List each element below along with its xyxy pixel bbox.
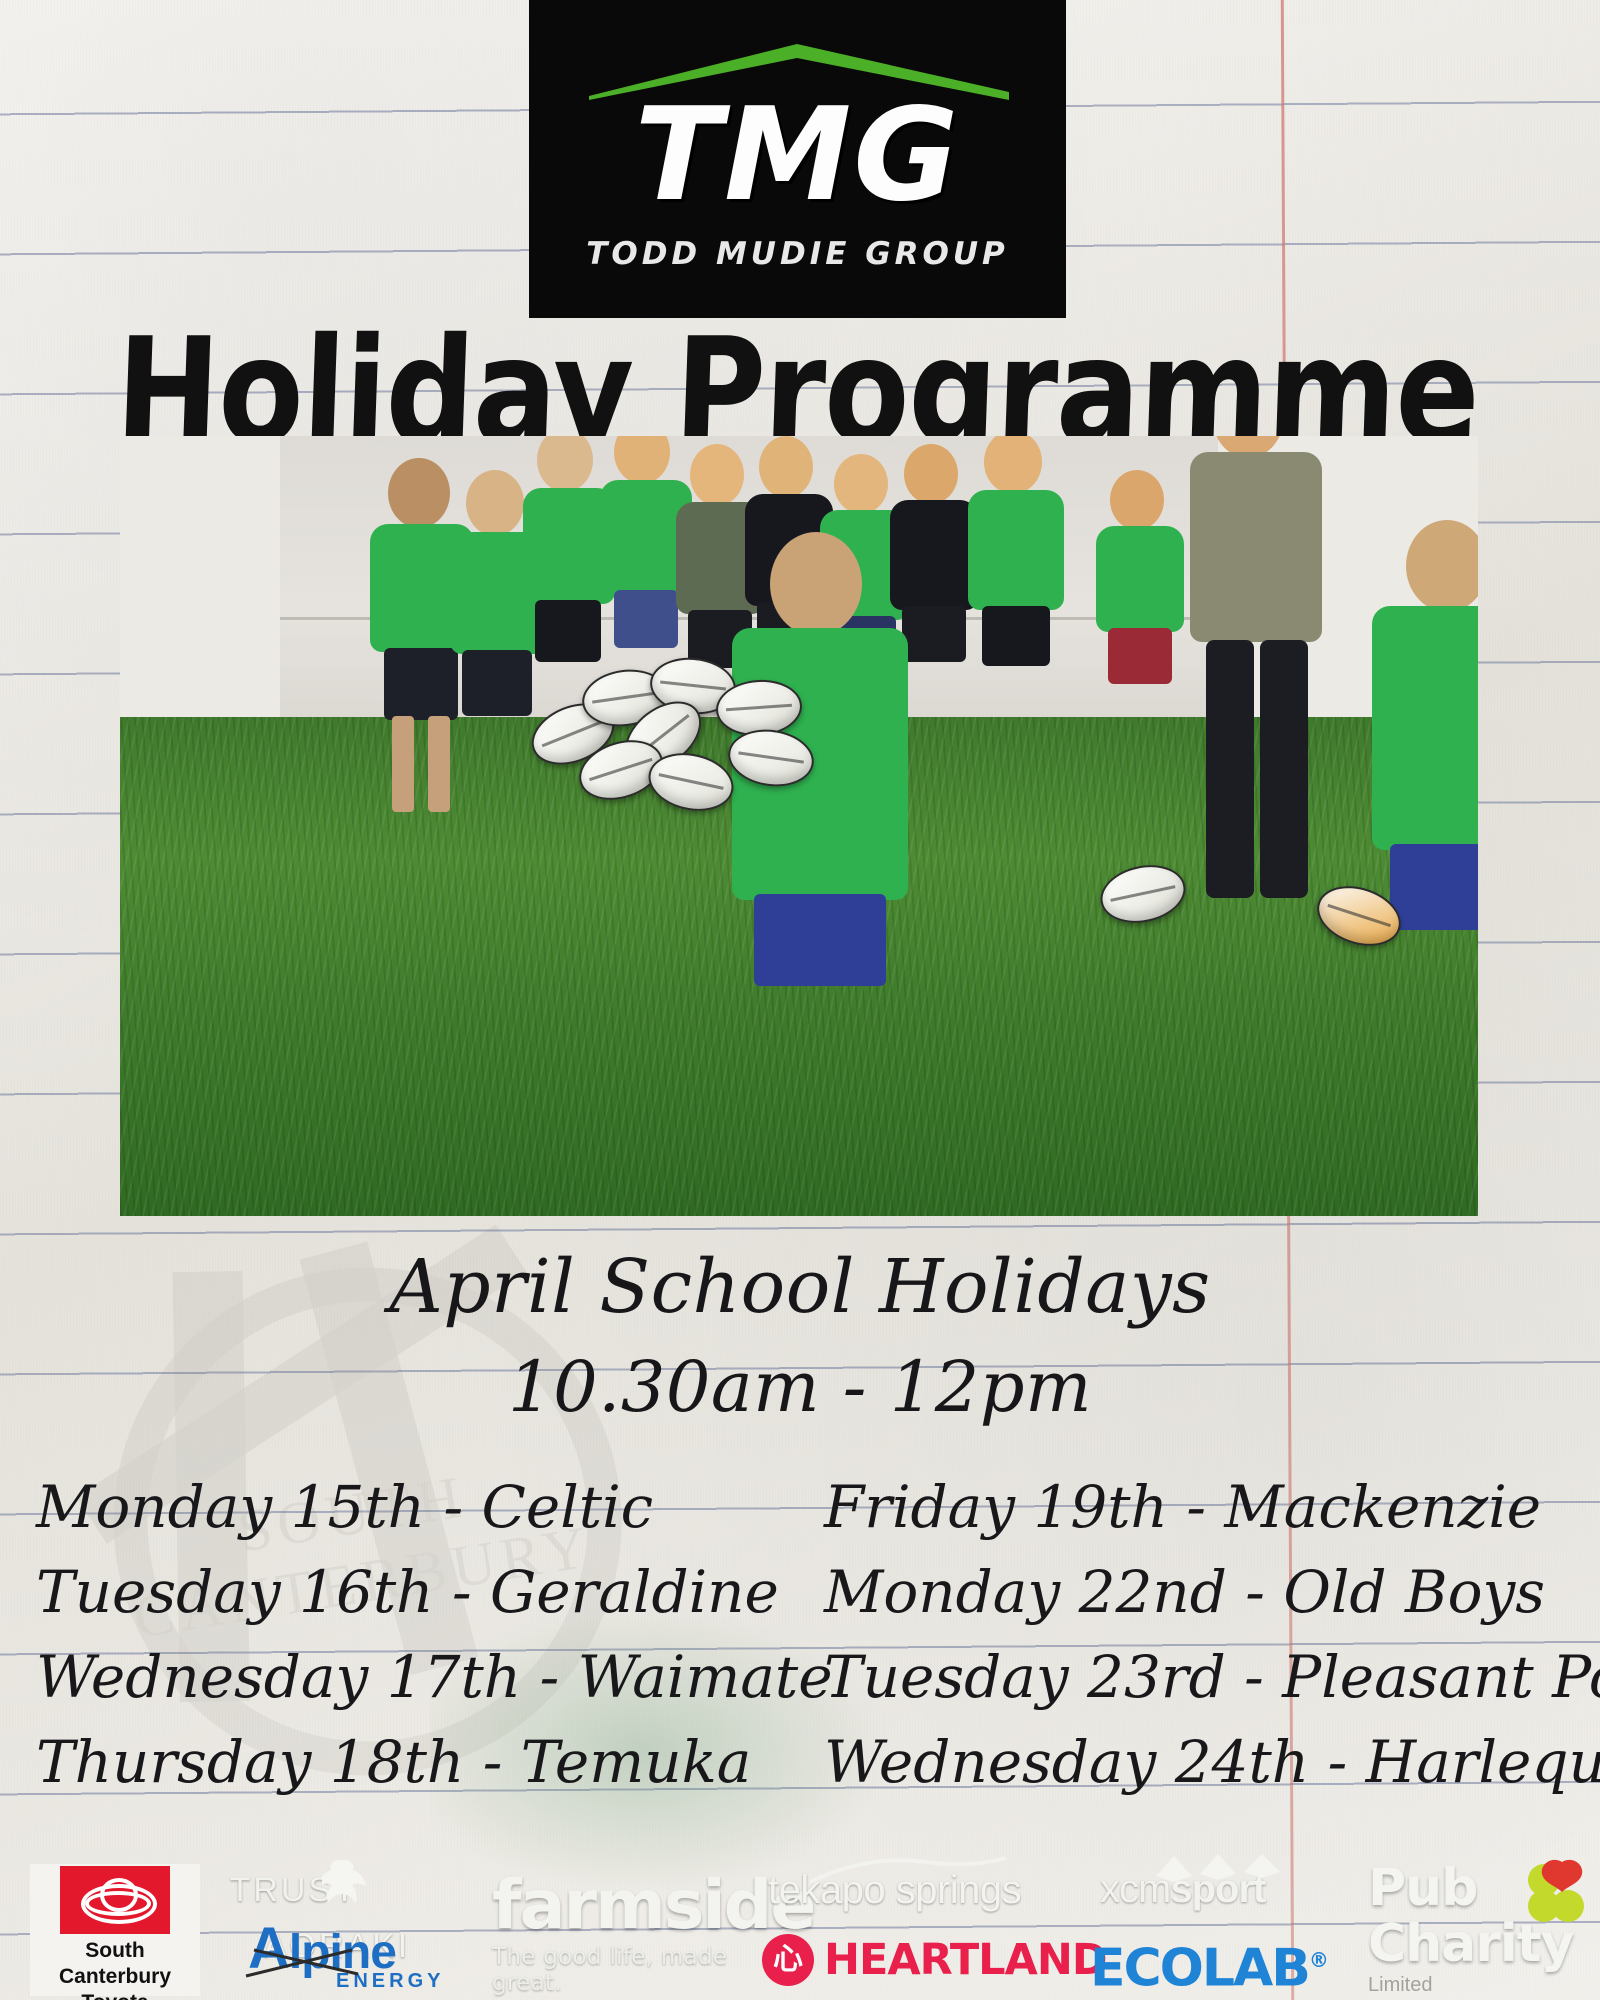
heartland-word: HEARTLAND [824, 1936, 1107, 1984]
arc-swoosh-icon [808, 1852, 1008, 1886]
schedule-right-column: Friday 19th - Mackenzie Monday 22nd - Ol… [816, 1465, 1596, 1805]
tmg-subtitle: TODD MUDIE GROUP [529, 236, 1066, 272]
sponsor-logo-ecolab: ECOLAB® [1090, 1932, 1350, 1992]
toyota-name-line1: South Canterbury [59, 1939, 171, 1988]
toyota-emblem-tile [60, 1866, 170, 1934]
ecolab-registered: ® [1309, 1948, 1327, 1972]
farmside-word: farmside [492, 1870, 782, 1942]
list-item: Tuesday 23rd - Pleasant Point [816, 1635, 1596, 1720]
rugby-training-photo [120, 436, 1478, 1216]
toyota-icon [81, 1878, 149, 1922]
poster-root: SOUTH CANTERBURY TMG TODD MUDIE GROUP Ho… [0, 0, 1600, 2000]
pub-charity-line3: Limited [1368, 1974, 1598, 1997]
bird-icon [322, 1858, 370, 1920]
list-item: Monday 15th - Celtic [36, 1465, 806, 1550]
heartland-seal-icon: 心 [762, 1934, 814, 1986]
sponsor-logo-tekapo-springs: tekapo springs [768, 1862, 1058, 1924]
sponsor-logo-farmside: farmside The good life, made great. [492, 1870, 782, 1980]
ski-poles-icon [244, 1946, 362, 1980]
sponsor-logo-pub-charity: Pub Charity Limited [1368, 1860, 1598, 1996]
tmg-logo: TMG TODD MUDIE GROUP [529, 0, 1066, 318]
tmg-wordmark: TMG [529, 92, 1066, 220]
list-item: Monday 22nd - Old Boys [816, 1550, 1596, 1635]
time-text: 10.30am - 12pm [0, 1350, 1600, 1426]
list-item: Thursday 18th - Temuka [36, 1720, 806, 1805]
toyota-name-line2: Toyota [81, 1991, 148, 2000]
sponsor-logo-south-canterbury-toyota: South Canterbury Toyota [30, 1864, 200, 1996]
sponsor-logo-alpine-energy: Alpine ENERGY [248, 1924, 468, 1996]
schedule-left-column: Monday 15th - Celtic Tuesday 16th - Gera… [36, 1465, 806, 1805]
ecolab-word: ECOLAB [1090, 1938, 1309, 1998]
schedule-grid: Monday 15th - Celtic Tuesday 16th - Gera… [36, 1465, 1586, 1805]
list-item: Friday 19th - Mackenzie [816, 1465, 1596, 1550]
farmside-tagline: The good life, made great. [492, 1944, 782, 1996]
clover-icon [1518, 1858, 1596, 1928]
list-item: Wednesday 17th - Waimate [36, 1635, 806, 1720]
subtitle: April School Holidays [0, 1248, 1600, 1328]
sponsor-logo-heartland: 心 HEARTLAND [762, 1932, 1072, 1994]
list-item: Wednesday 24th - Harlequins [816, 1720, 1596, 1805]
chevrons-icon [1156, 1854, 1286, 1884]
rugby-ball-pile [520, 658, 840, 828]
list-item: Tuesday 16th - Geraldine [36, 1550, 806, 1635]
sponsor-strip: South Canterbury Toyota TRUST AORAKI Alp… [0, 1856, 1600, 2000]
sponsor-logo-xcmsport: xcmsport [1100, 1860, 1330, 1926]
